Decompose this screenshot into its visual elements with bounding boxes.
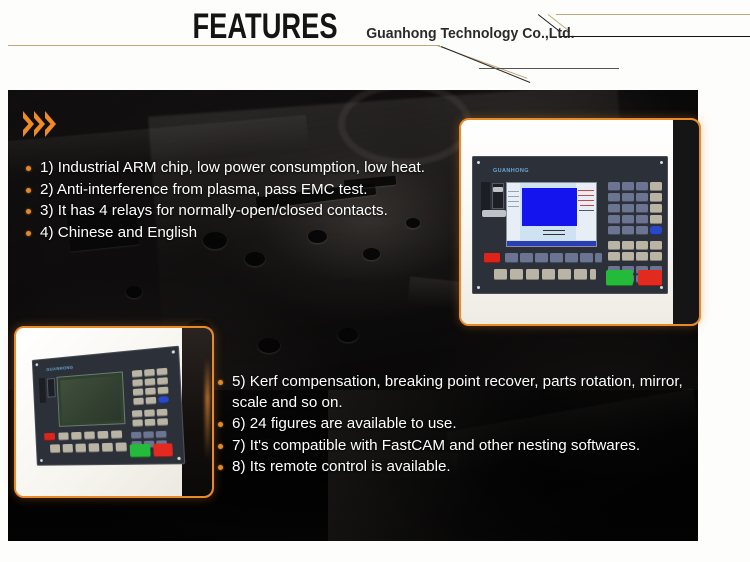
list-item: 6) 24 figures are available to use. — [218, 414, 688, 435]
list-item: 1) Industrial ARM chip, low power consum… — [26, 158, 426, 179]
bullet-dot-icon — [218, 465, 223, 470]
list-item: 5) Kerf compensation, breaking point rec… — [218, 372, 688, 413]
page-title: FEATURES — [193, 8, 338, 46]
product-photo-dark-edge — [673, 120, 699, 324]
product-image-bottom-left[interactable]: GUANHONG — [14, 326, 214, 498]
header-rule-left-dark-diag — [441, 46, 531, 83]
product-photo-glow — [205, 358, 210, 459]
bullet-dot-icon — [218, 422, 223, 427]
page-header: FEATURES Guanhong Technology Co.,Ltd. — [0, 0, 750, 88]
features-list-top: 1) Industrial ARM chip, low power consum… — [26, 158, 426, 244]
feature-text: 3) It has 4 relays for normally-open/clo… — [40, 201, 426, 222]
features-list-bottom: 5) Kerf compensation, breaking point rec… — [218, 372, 688, 479]
cnc-controller-body: GUANHONG — [472, 156, 668, 294]
controller-screen — [57, 371, 126, 426]
controller-screen — [506, 182, 597, 247]
list-item: 2) Anti-interference from plasma, pass E… — [26, 180, 426, 201]
bullet-dot-icon — [218, 444, 223, 449]
header-rule-left-grey — [479, 68, 619, 69]
list-item: 3) It has 4 relays for normally-open/clo… — [26, 201, 426, 222]
header-title-block: FEATURES Guanhong Technology Co.,Ltd. — [0, 8, 750, 46]
bullet-dot-icon — [26, 188, 31, 193]
feature-text: 1) Industrial ARM chip, low power consum… — [40, 158, 426, 179]
bullet-dot-icon — [26, 166, 31, 171]
feature-text: 5) Kerf compensation, breaking point rec… — [232, 372, 688, 413]
list-item: 7) It's compatible with FastCAM and othe… — [218, 436, 688, 457]
bullet-dot-icon — [218, 380, 223, 385]
triple-chevron-right-icon — [22, 110, 68, 140]
feature-text: 7) It's compatible with FastCAM and othe… — [232, 436, 688, 457]
controller-brand-label: GUANHONG — [46, 365, 73, 372]
controller-brand-label: GUANHONG — [493, 168, 529, 174]
cnc-controller-body: GUANHONG — [32, 346, 186, 466]
list-item: 8) Its remote control is available. — [218, 457, 688, 478]
list-item: 4) Chinese and English — [26, 223, 426, 244]
feature-text: 2) Anti-interference from plasma, pass E… — [40, 180, 426, 201]
bullet-dot-icon — [26, 209, 31, 214]
feature-text: 4) Chinese and English — [40, 223, 426, 244]
company-name: Guanhong Technology Co.,Ltd. — [366, 26, 574, 42]
feature-text: 8) Its remote control is available. — [232, 457, 688, 478]
feature-text: 6) 24 figures are available to use. — [232, 414, 688, 435]
product-image-top-right[interactable]: GUANHONG — [459, 118, 701, 326]
bullet-dot-icon — [26, 231, 31, 236]
